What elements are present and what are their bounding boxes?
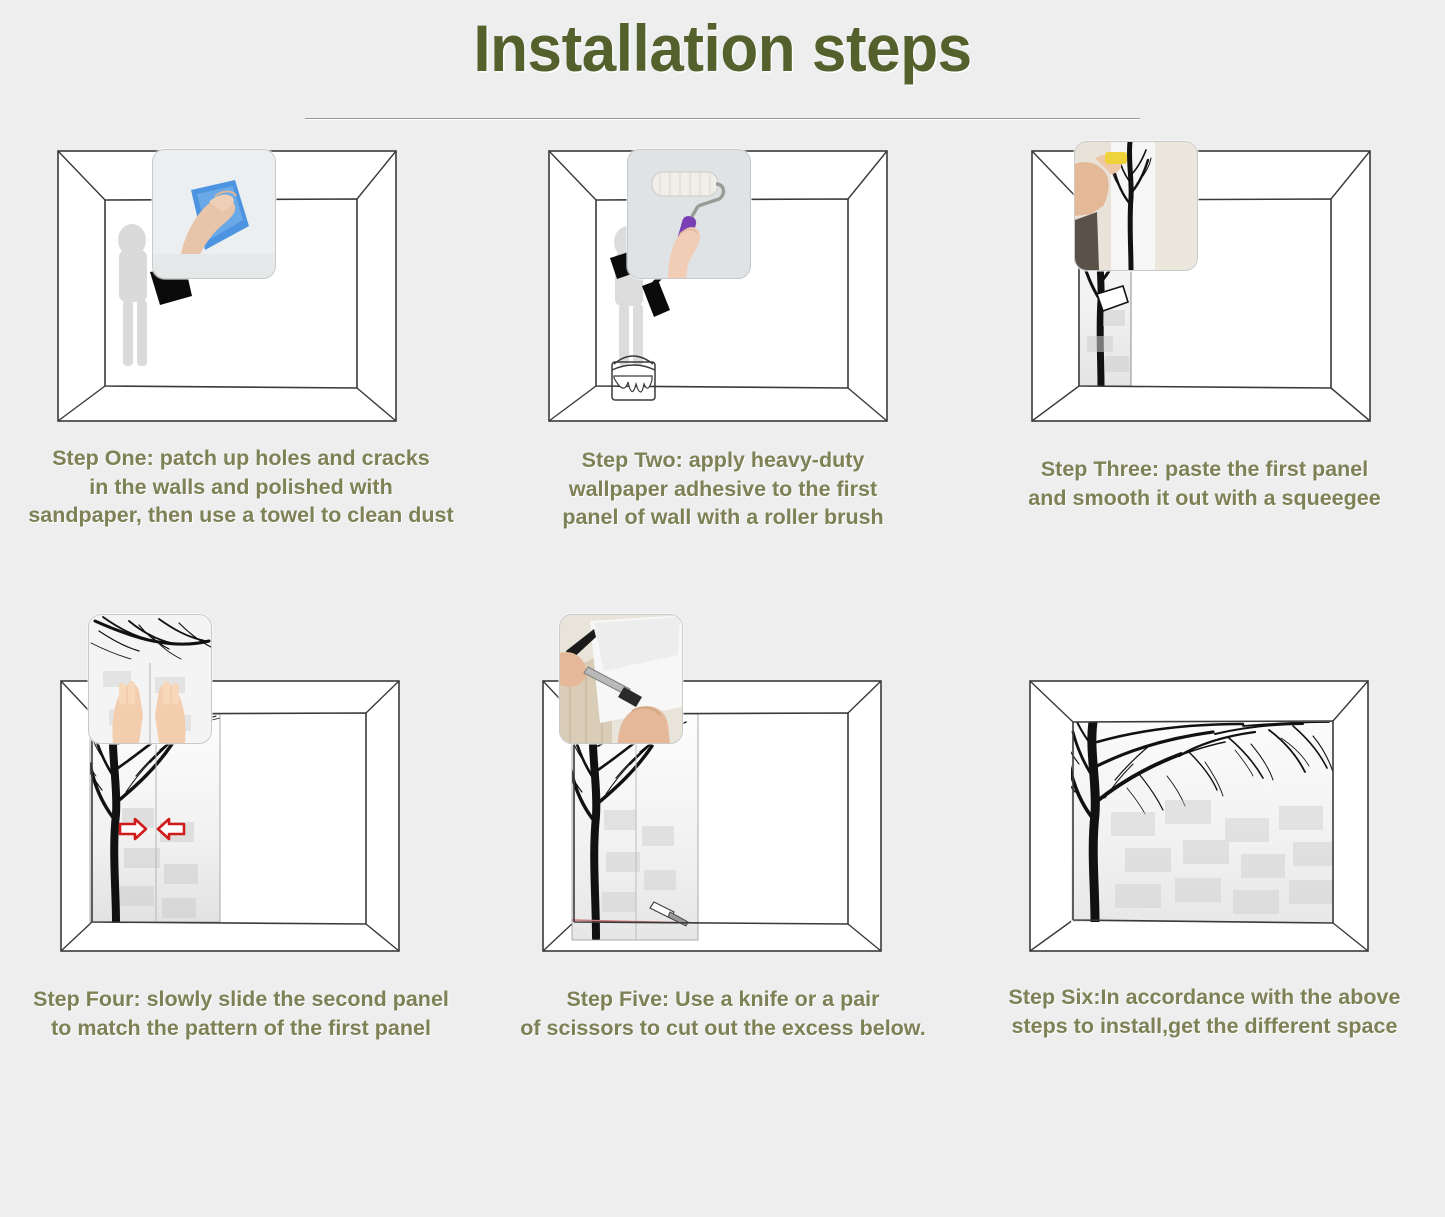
step-card-one: Step One: patch up holes and cracks in t… xyxy=(0,150,482,680)
caption-line: Step Two: apply heavy-duty xyxy=(490,446,956,475)
caption-step-four: Step Four: slowly slide the second panel… xyxy=(0,985,482,1042)
photo-two-hands-matching-panels xyxy=(88,614,212,744)
caption-line: to match the pattern of the first panel xyxy=(8,1014,474,1043)
mural-with-excess xyxy=(566,714,698,940)
installation-steps-grid: Step One: patch up holes and cracks in t… xyxy=(0,150,1445,1210)
caption-line: Step Three: paste the first panel xyxy=(972,455,1437,484)
caption-line: sandpaper, then use a towel to clean dus… xyxy=(8,501,474,530)
caption-line: Step Five: Use a knife or a pair xyxy=(490,985,956,1014)
caption-line: Step Six:In accordance with the above xyxy=(972,983,1437,1012)
caption-line: of scissors to cut out the excess below. xyxy=(490,1014,956,1043)
caption-line: Step One: patch up holes and cracks xyxy=(8,444,474,473)
page-header: Installation steps xyxy=(0,0,1445,119)
caption-line: steps to install,get the different space xyxy=(972,1012,1437,1041)
caption-step-three: Step Three: paste the first panel and sm… xyxy=(964,455,1445,512)
caption-line: wallpaper adhesive to the first xyxy=(490,475,956,504)
mural-two-panels xyxy=(84,714,220,922)
caption-line: panel of wall with a roller brush xyxy=(490,503,956,532)
mural-full-wall xyxy=(1059,722,1333,922)
room-box-svg xyxy=(1029,680,1369,952)
step-card-two: Step Two: apply heavy-duty wallpaper adh… xyxy=(482,150,964,680)
title-divider xyxy=(305,118,1140,119)
photo-applying-panel-with-yellow-squeegee xyxy=(1074,141,1198,271)
photo-paint-roller-on-wall xyxy=(627,149,751,279)
caption-line: and smooth it out with a squeegee xyxy=(972,484,1437,513)
caption-line: in the walls and polished with xyxy=(8,473,474,502)
step-card-three: Step Three: paste the first panel and sm… xyxy=(964,150,1445,680)
step-card-four: Step Four: slowly slide the second panel… xyxy=(0,680,482,1210)
caption-step-six: Step Six:In accordance with the above st… xyxy=(964,983,1445,1040)
photo-hand-wiping-wall-with-blue-cloth xyxy=(152,149,276,279)
caption-step-two: Step Two: apply heavy-duty wallpaper adh… xyxy=(482,446,964,532)
caption-line: Step Four: slowly slide the second panel xyxy=(8,985,474,1014)
room-illustration-step-six xyxy=(1029,680,1369,952)
page-title: Installation steps xyxy=(43,6,1401,90)
step-card-five: Step Five: Use a knife or a pair of scis… xyxy=(482,680,964,1210)
caption-step-five: Step Five: Use a knife or a pair of scis… xyxy=(482,985,964,1042)
photo-cutting-wallpaper-with-knife xyxy=(559,614,683,744)
step-card-six: Step Six:In accordance with the above st… xyxy=(964,680,1445,1210)
caption-step-one: Step One: patch up holes and cracks in t… xyxy=(0,444,482,530)
